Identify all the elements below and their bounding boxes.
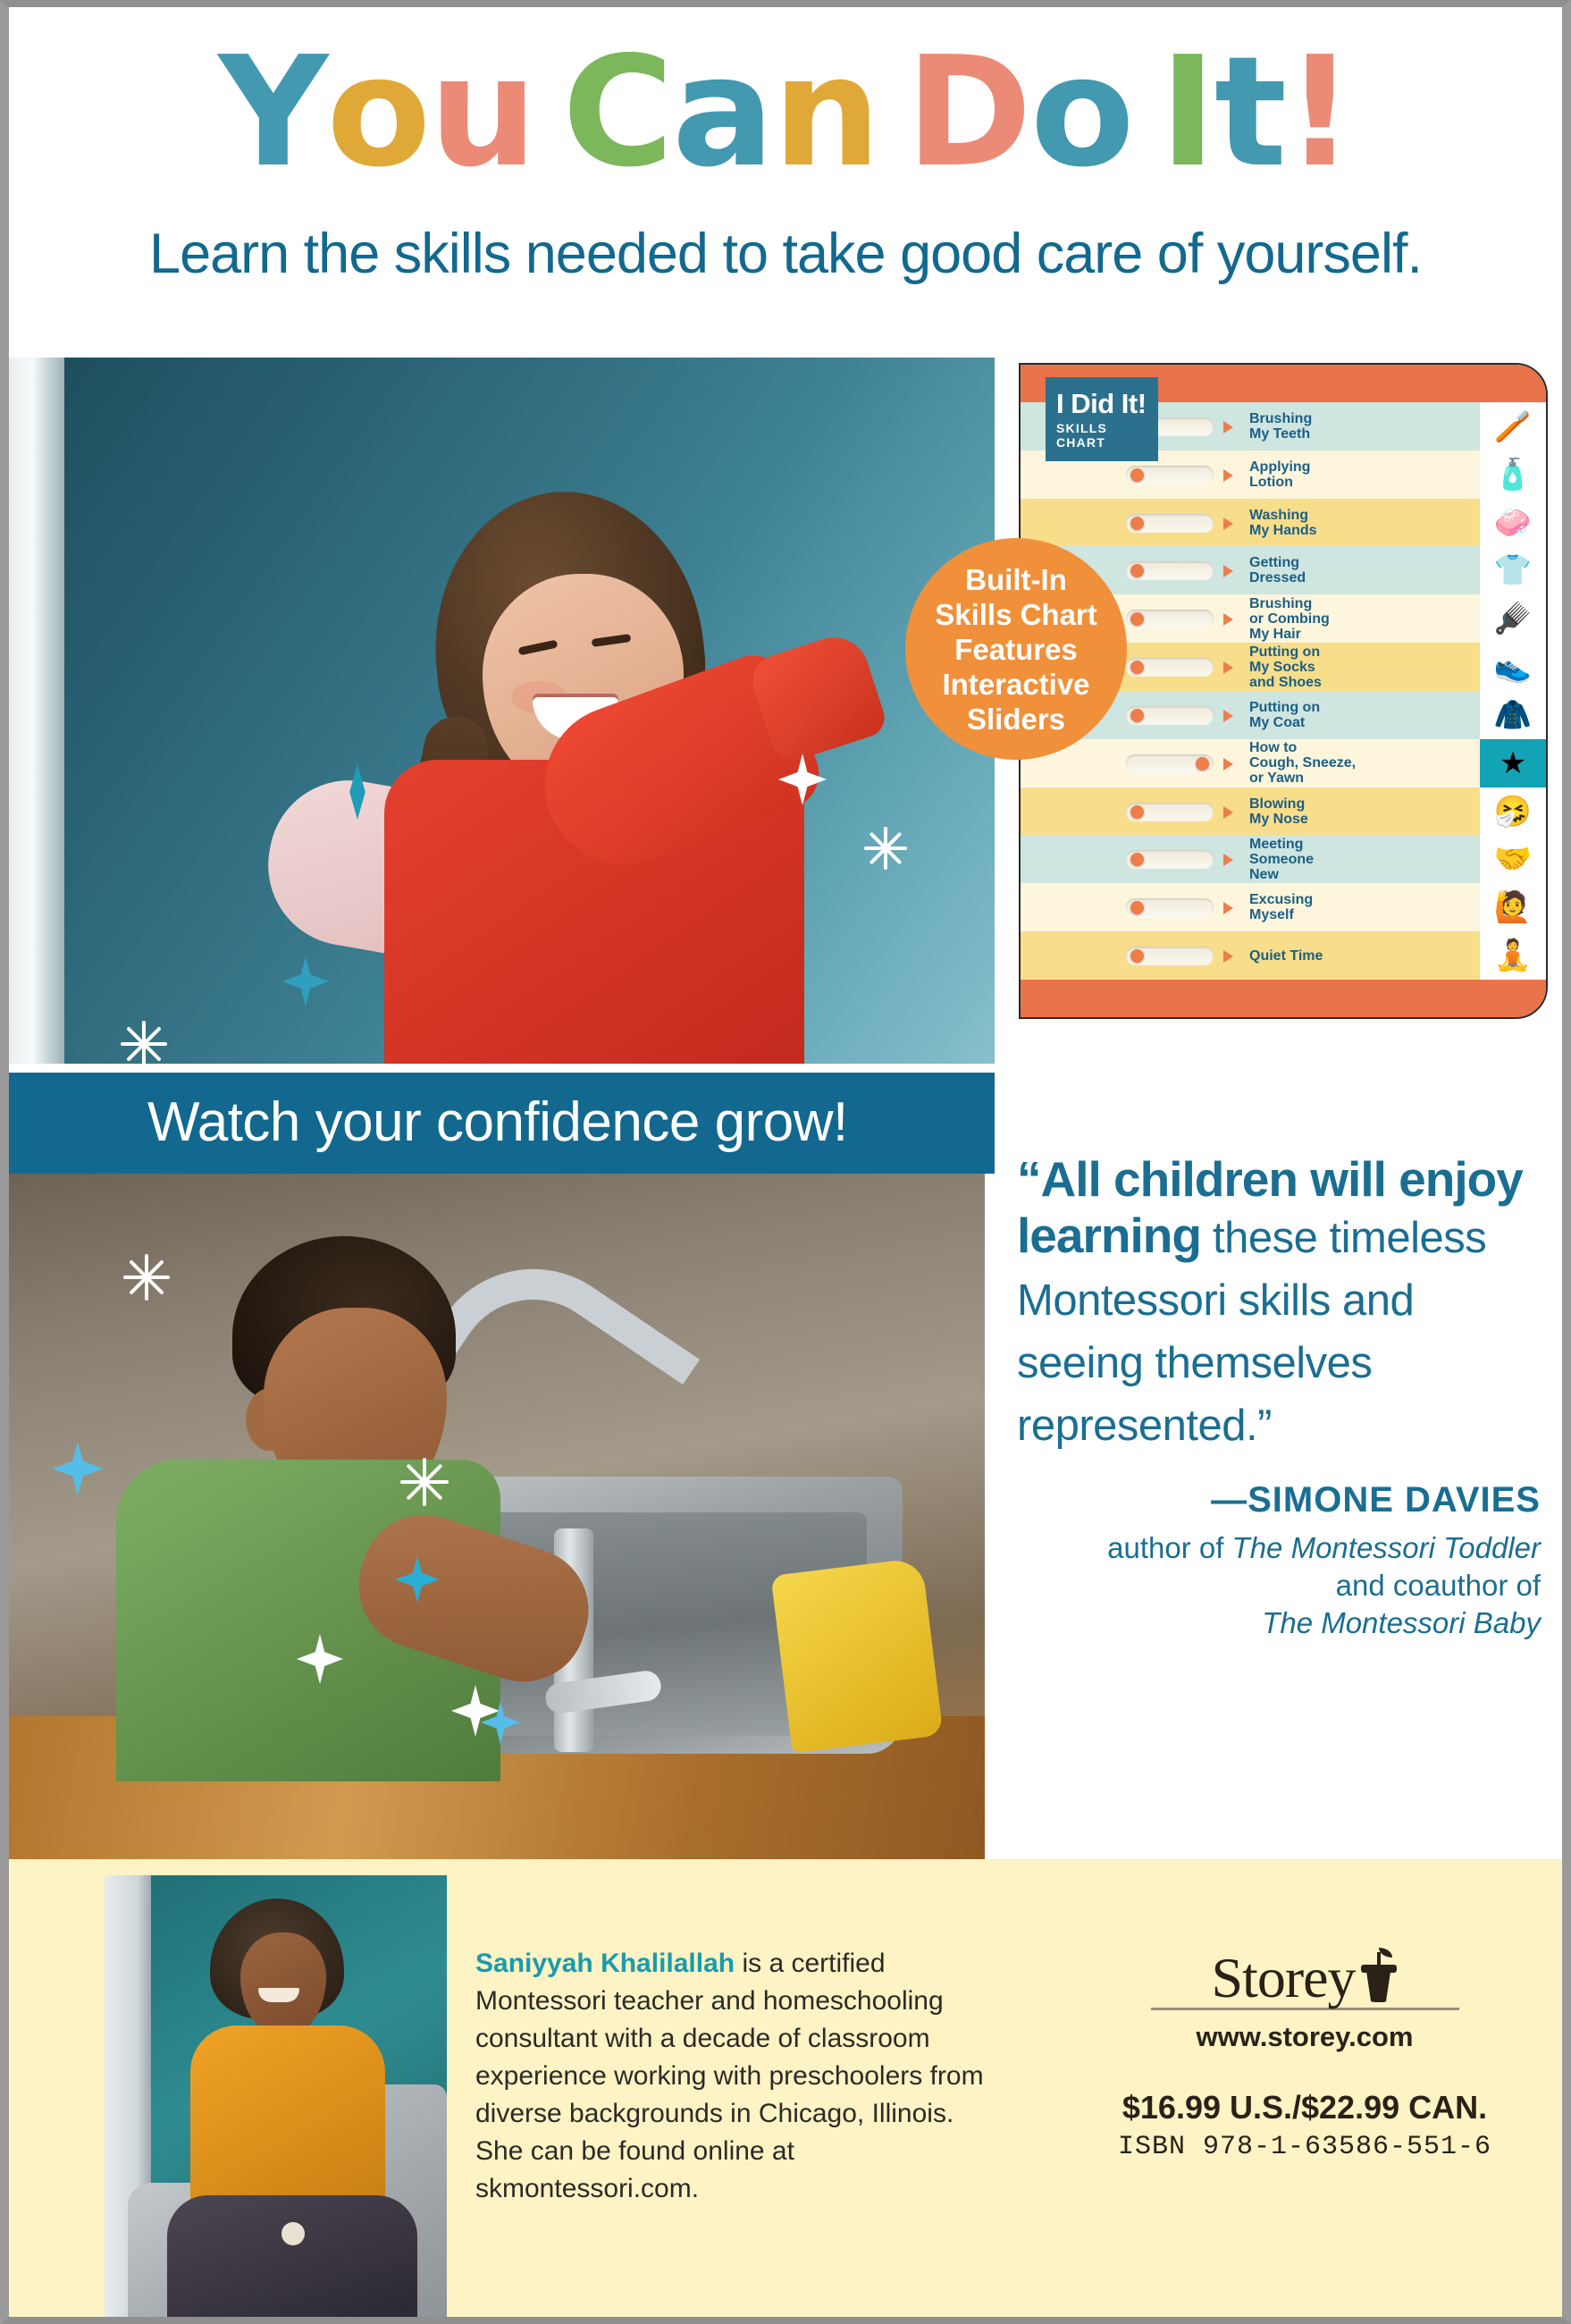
yellow-towel [770, 1557, 943, 1753]
skill-slider[interactable] [1126, 850, 1214, 868]
skills-chart-brand-badge: I Did It! SKILLS CHART [1046, 377, 1158, 461]
slider-knob[interactable] [1130, 661, 1144, 674]
skills-row: WashingMy Hands🧼 [1021, 499, 1546, 547]
author-name: Saniyyah Khalilallah [475, 1949, 735, 1978]
subtitle: Learn the skills needed to take good car… [9, 222, 1562, 286]
washing-hands-icon: 🧼 [1480, 499, 1546, 547]
shoes-icon: 👟 [1480, 643, 1546, 691]
skill-label: ApplyingLotion [1249, 459, 1480, 490]
slider-arrow-icon [1223, 661, 1233, 674]
boy-figure [63, 1236, 527, 1772]
title-letter-6: n [773, 32, 879, 193]
sparkle-asterisk-icon [121, 1021, 167, 1064]
star-icon: ★ [1480, 739, 1546, 787]
window-frame [9, 358, 64, 1064]
skill-slider[interactable] [1126, 514, 1214, 532]
skill-label: MeetingSomeoneNew [1249, 837, 1480, 882]
slider-knob[interactable] [1130, 853, 1144, 866]
skills-row: BlowingMy Nose🤧 [1021, 787, 1546, 836]
badge-line-0: Built-In [965, 562, 1067, 597]
slider-arrow-icon [1223, 421, 1233, 434]
photo-boy-washing-hands [9, 1174, 985, 1859]
flowerpot-icon [1359, 1956, 1399, 2002]
skill-label: ExcusingMyself [1249, 892, 1480, 922]
slider-knob[interactable] [1130, 709, 1144, 722]
skill-slider[interactable] [1126, 561, 1214, 579]
slider-arrow-icon [1223, 469, 1233, 482]
skill-slider[interactable] [1126, 706, 1214, 724]
title-letter-0: Y [218, 32, 326, 193]
toothbrush-icon: 🪥 [1480, 402, 1546, 450]
quote-attribution: —SIMONE DAVIES [1017, 1480, 1541, 1520]
slider-arrow-icon [1223, 518, 1233, 530]
title-letter-11: I [1160, 32, 1214, 193]
slider-arrow-icon [1223, 806, 1233, 819]
title-letter-4: C [562, 32, 672, 193]
built-in-sliders-badge: Built-InSkills ChartFeaturesInteractiveS… [905, 538, 1127, 760]
chart-bottom-band [1021, 980, 1546, 1017]
slider-arrow-icon [1223, 758, 1233, 770]
badge-line-4: Sliders [967, 702, 1065, 737]
author-bio-text: is a certified Montessori teacher and ho… [475, 1949, 984, 2203]
handshake-icon: 🤝 [1480, 835, 1546, 883]
slider-arrow-icon [1223, 613, 1233, 626]
skill-slider[interactable] [1126, 947, 1214, 964]
hairbrush-icon: 🪮 [1480, 594, 1546, 643]
publisher-url[interactable]: www.storey.com [1117, 2021, 1492, 2053]
confidence-banner: Watch your confidence grow! [9, 1073, 995, 1174]
publisher-block: Storey www.storey.com $16.99 U.S./$22.99… [1117, 1945, 1492, 2162]
title-letter-13: ! [1285, 32, 1353, 193]
page-title: YouCanDoIt! [9, 32, 1562, 193]
header-section: YouCanDoIt! Learn the skills needed to t… [9, 7, 1562, 354]
coat-icon: 🧥 [1480, 691, 1546, 739]
brand-subtitle: SKILLS CHART [1056, 421, 1158, 450]
credit-book-title-2: The Montessori Baby [1262, 1606, 1541, 1639]
slider-arrow-icon [1223, 565, 1233, 577]
title-letter-5: a [672, 32, 773, 193]
sparkle-asterisk-icon [400, 1458, 449, 1506]
banner-label: Watch your confidence grow! [147, 1090, 848, 1154]
quote-credit: author of The Montessori Toddler and coa… [1017, 1529, 1541, 1642]
skills-row: Quiet Time🧘 [1021, 931, 1546, 980]
review-quote-block: “All children will enjoy learning these … [1017, 1151, 1541, 1642]
title-letter-12: t [1214, 32, 1285, 193]
skill-label: WashingMy Hands [1249, 508, 1480, 538]
lotion-bottle-icon: 🧴 [1480, 450, 1546, 499]
skill-label: BlowingMy Nose [1249, 796, 1480, 827]
author-footer-section: Saniyyah Khalilallah is a certified Mont… [9, 1859, 1562, 2317]
title-letter-8: D [906, 32, 1030, 193]
storey-logo: Storey [1151, 1945, 1459, 2010]
meditating-child-icon: 🧘 [1480, 931, 1546, 980]
skill-label: Putting onMy Socksand Shoes [1249, 644, 1480, 690]
skill-slider[interactable] [1126, 658, 1214, 676]
slider-arrow-icon [1223, 854, 1233, 866]
skills-row: How toCough, Sneeze,or Yawn★ [1021, 739, 1546, 787]
badge-line-3: Interactive [942, 667, 1089, 702]
photo-girl-getting-dressed [9, 358, 995, 1064]
badge-line-2: Features [954, 632, 1078, 667]
skill-slider[interactable] [1126, 610, 1214, 627]
brand-title: I Did It! [1056, 390, 1158, 418]
sparkle-asterisk-icon [123, 1254, 170, 1301]
sparkle-asterisk-icon [864, 827, 907, 870]
skill-slider[interactable] [1126, 754, 1214, 772]
slider-knob[interactable] [1130, 805, 1144, 819]
clothes-icon: 👕 [1480, 546, 1546, 594]
skill-slider[interactable] [1126, 466, 1214, 484]
slider-arrow-icon [1223, 950, 1233, 963]
child-hand-raised-icon: 🙋 [1480, 883, 1546, 931]
book-back-cover: YouCanDoIt! Learn the skills needed to t… [0, 0, 1571, 2324]
skill-label: Putting onMy Coat [1249, 700, 1480, 730]
isbn-label: ISBN 978-1-63586-551-6 [1117, 2132, 1492, 2162]
credit-prefix: author of [1107, 1531, 1231, 1564]
skill-label: Brushingor CombingMy Hair [1249, 596, 1480, 642]
title-letter-2: u [429, 32, 535, 193]
slider-knob[interactable] [1130, 517, 1144, 530]
author-portrait [105, 1875, 447, 2317]
skills-row: MeetingSomeoneNew🤝 [1021, 835, 1546, 883]
skill-label: BrushingMy Teeth [1249, 411, 1480, 442]
slider-knob[interactable] [1196, 757, 1209, 770]
girl-figure [277, 492, 849, 1064]
author-bio: Saniyyah Khalilallah is a certified Mont… [475, 1945, 985, 2208]
price-label: $16.99 U.S./$22.99 CAN. [1117, 2089, 1492, 2126]
publisher-name: Storey [1211, 1946, 1355, 2009]
credit-book-title-1: The Montessori Toddler [1232, 1531, 1541, 1564]
title-letter-9: o [1030, 32, 1133, 193]
slider-knob[interactable] [1130, 901, 1144, 914]
slider-knob[interactable] [1130, 949, 1144, 963]
badge-line-1: Skills Chart [935, 597, 1097, 632]
skill-label: GettingDressed [1249, 555, 1480, 585]
slider-arrow-icon [1223, 710, 1233, 722]
slider-knob[interactable] [1130, 564, 1144, 577]
skill-label: Quiet Time [1249, 948, 1480, 964]
credit-line-2: and coauthor of [1336, 1569, 1541, 1602]
skill-slider[interactable] [1126, 803, 1214, 821]
skill-slider[interactable] [1126, 898, 1214, 916]
slider-knob[interactable] [1130, 468, 1144, 482]
skills-row: ExcusingMyself🙋 [1021, 883, 1546, 931]
tissue-box-icon: 🤧 [1480, 787, 1546, 836]
title-letter-1: o [326, 32, 429, 193]
skill-label: How toCough, Sneeze,or Yawn [1249, 740, 1480, 786]
slider-knob[interactable] [1130, 612, 1144, 626]
slider-arrow-icon [1223, 902, 1233, 914]
